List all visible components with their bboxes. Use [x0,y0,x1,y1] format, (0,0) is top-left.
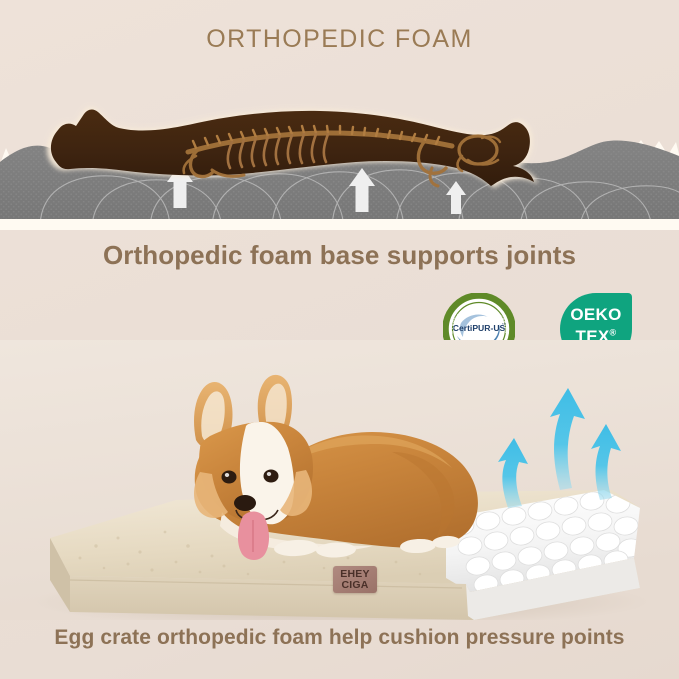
caption-egg-crate: Egg crate orthopedic foam help cushion p… [0,626,679,650]
brand-tag-line1: EHEY [340,569,369,580]
brand-tag: EHEY CIGA [333,566,377,593]
product-infographic: ORTHOPEDIC FOAM [0,0,679,679]
caption-orthopedic-base: Orthopedic foam base supports joints [0,240,679,271]
page-title: ORTHOPEDIC FOAM [0,25,679,54]
dog-nose [234,495,256,511]
oeko-tex-line1: OEKO [560,306,632,323]
registered-mark-icon: ® [610,327,617,337]
foam-cross-section-diagram [0,78,679,230]
svg-text:CertiPUR-US: CertiPUR-US [453,323,506,333]
brand-tag-line2: CIGA [341,580,368,591]
